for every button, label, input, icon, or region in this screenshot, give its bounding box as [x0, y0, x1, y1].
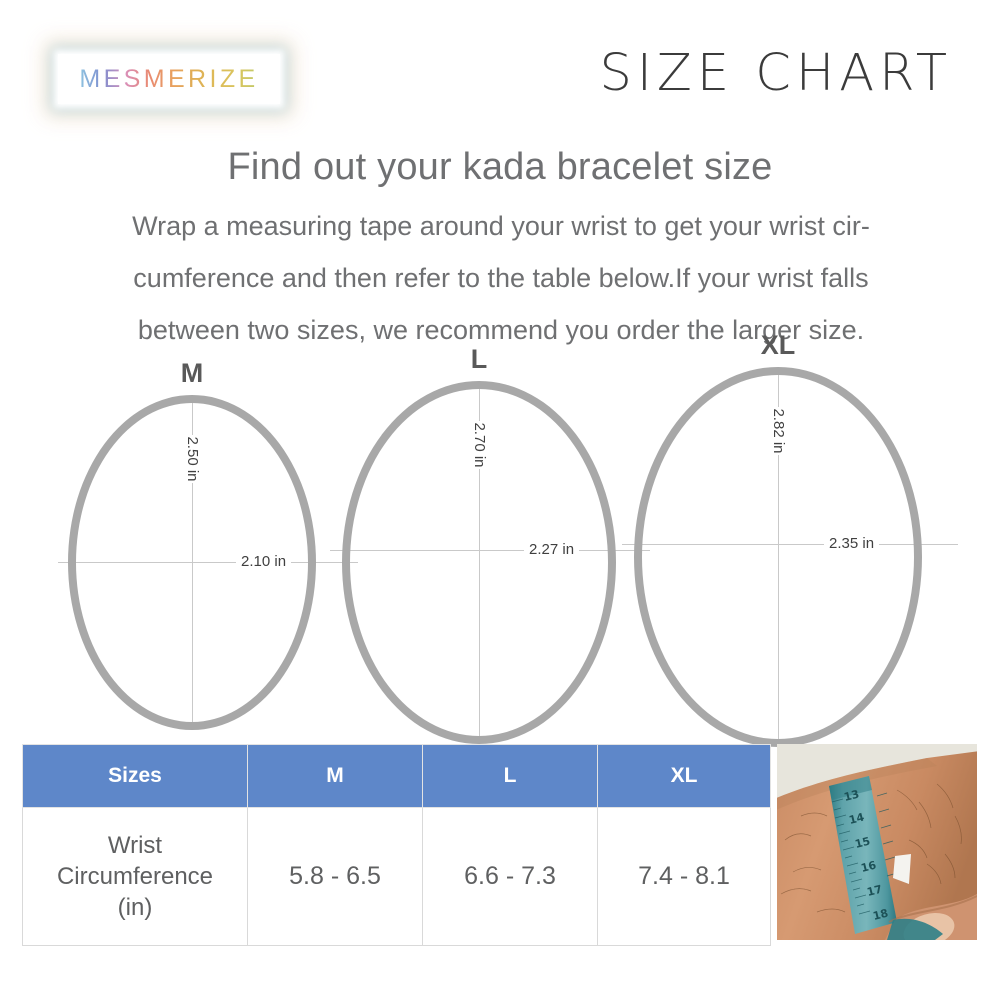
- row-label-line-2: Circumference: [24, 861, 246, 892]
- ring-dimension-width-xl: 2.35 in: [824, 536, 879, 552]
- page-title: SIZE CHART: [599, 44, 952, 103]
- ring-dimension-width-l: 2.27 in: [524, 542, 579, 558]
- intro-heading: Find out your kada bracelet size: [0, 146, 1000, 189]
- row-label-line-1: Wrist: [24, 830, 246, 861]
- table-header-row: Sizes M L XL: [23, 745, 771, 808]
- ring-label-l: L: [336, 346, 622, 373]
- table-cell-m: 5.8 - 6.5: [248, 808, 423, 946]
- ring-dimension-width-m: 2.10 in: [236, 554, 291, 570]
- wrist-measurement-photo: 13 14 15 16 17 18: [777, 744, 977, 940]
- table-cell-l: 6.6 - 7.3: [423, 808, 598, 946]
- intro-line-1: Wrap a measuring tape around your wrist …: [48, 200, 954, 252]
- size-table: Sizes M L XL Wrist Circumference (in) 5.…: [22, 744, 771, 946]
- ring-label-m: M: [62, 360, 322, 387]
- table-header-m: M: [248, 745, 423, 808]
- ring-diagrams: M 2.50 in 2.10 in L 2.70 in 2.27 in XL 2…: [0, 340, 1000, 740]
- ring-dimension-height-xl: 2.82 in: [766, 407, 790, 455]
- table-header-sizes: Sizes: [23, 745, 248, 808]
- brand-logo-text: MESMERIZE: [79, 65, 258, 94]
- table-header-l: L: [423, 745, 598, 808]
- ring-label-xl: XL: [628, 332, 928, 359]
- table-header-xl: XL: [598, 745, 771, 808]
- table-cell-xl: 7.4 - 8.1: [598, 808, 771, 946]
- row-label-line-3: (in): [24, 892, 246, 923]
- intro-line-2: cumference and then refer to the table b…: [48, 252, 954, 304]
- table-row: Wrist Circumference (in) 5.8 - 6.5 6.6 -…: [23, 808, 771, 946]
- ring-dimension-height-m: 2.50 in: [180, 435, 204, 483]
- ring-dimension-height-l: 2.70 in: [467, 421, 491, 469]
- brand-logo: MESMERIZE: [58, 54, 280, 104]
- table-cell-row-label: Wrist Circumference (in): [23, 808, 248, 946]
